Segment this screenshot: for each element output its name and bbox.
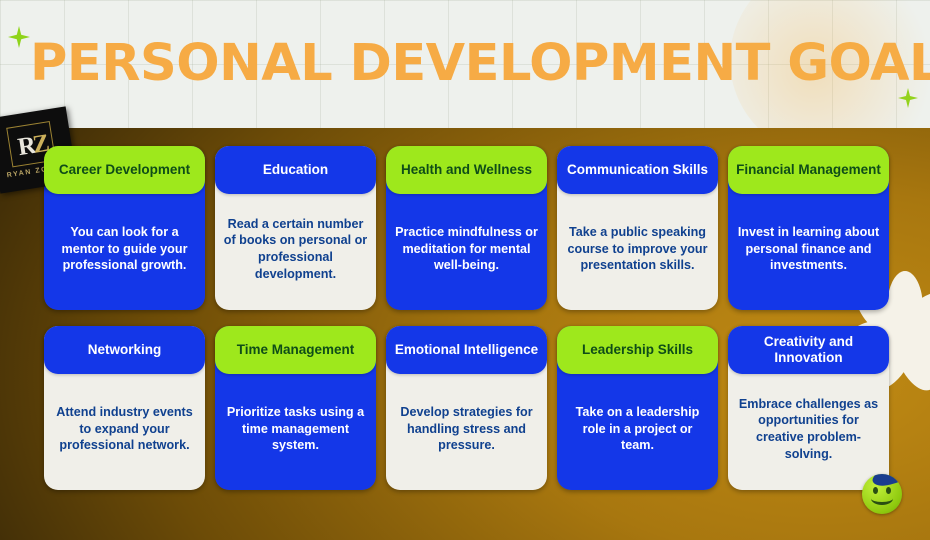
goal-card-description: Practice mindfulness or meditation for m…	[394, 224, 539, 274]
goal-card-description: Read a certain number of books on person…	[223, 216, 368, 283]
goal-card-description: Attend industry events to expand your pr…	[52, 404, 197, 454]
goal-card[interactable]: You can look for a mentor to guide your …	[44, 146, 205, 310]
goal-card[interactable]: Attend industry events to expand your pr…	[44, 326, 205, 490]
goal-card-title: Communication Skills	[567, 162, 708, 178]
goal-card-title: Time Management	[237, 342, 355, 358]
goal-card-title: Emotional Intelligence	[395, 342, 538, 358]
goal-card-description: Develop strategies for handling stress a…	[394, 404, 539, 454]
smiley-face-icon	[862, 474, 902, 514]
goal-card-description: Prioritize tasks using a time management…	[223, 404, 368, 454]
goal-card[interactable]: Take on a leadership role in a project o…	[557, 326, 718, 490]
goal-card-header: Communication Skills	[557, 146, 718, 194]
header-band: PERSONAL DEVELOPMENT GOALS	[0, 0, 930, 128]
goal-card-description: You can look for a mentor to guide your …	[52, 224, 197, 274]
goal-card-header: Emotional Intelligence	[386, 326, 547, 374]
goal-card-title: Networking	[88, 342, 162, 358]
goal-card-grid: You can look for a mentor to guide your …	[44, 146, 889, 490]
goal-card-title: Leadership Skills	[582, 342, 693, 358]
goal-card-header: Time Management	[215, 326, 376, 374]
goal-card-header: Leadership Skills	[557, 326, 718, 374]
goal-card[interactable]: Prioritize tasks using a time management…	[215, 326, 376, 490]
goal-card[interactable]: Read a certain number of books on person…	[215, 146, 376, 310]
goal-card-header: Financial Management	[728, 146, 889, 194]
goal-card-title: Career Development	[59, 162, 190, 178]
goal-card-description: Take a public speaking course to improve…	[565, 224, 710, 274]
smiley-mouth	[871, 492, 893, 505]
goal-card[interactable]: Take a public speaking course to improve…	[557, 146, 718, 310]
goal-card[interactable]: Embrace challenges as opportunities for …	[728, 326, 889, 490]
goal-card[interactable]: Develop strategies for handling stress a…	[386, 326, 547, 490]
goal-card-description: Embrace challenges as opportunities for …	[736, 396, 881, 463]
goal-card-header: Health and Wellness	[386, 146, 547, 194]
goal-card-header: Networking	[44, 326, 205, 374]
goal-card-title: Education	[263, 162, 328, 178]
goal-card-header: Education	[215, 146, 376, 194]
goal-card-header: Creativity and Innovation	[728, 326, 889, 374]
page-title: PERSONAL DEVELOPMENT GOALS	[30, 38, 900, 89]
goal-card[interactable]: Invest in learning about personal financ…	[728, 146, 889, 310]
goal-card-header: Career Development	[44, 146, 205, 194]
sparkle-icon	[898, 88, 918, 108]
goal-card-title: Creativity and Innovation	[736, 334, 881, 366]
goal-card-title: Financial Management	[736, 162, 881, 178]
content-board: You can look for a mentor to guide your …	[0, 128, 930, 540]
goal-card-description: Take on a leadership role in a project o…	[565, 404, 710, 454]
poster-canvas: PERSONAL DEVELOPMENT GOALS You can look	[0, 0, 930, 540]
goal-card-title: Health and Wellness	[401, 162, 532, 178]
sparkle-icon	[8, 26, 30, 48]
goal-card[interactable]: Practice mindfulness or meditation for m…	[386, 146, 547, 310]
goal-card-description: Invest in learning about personal financ…	[736, 224, 881, 274]
